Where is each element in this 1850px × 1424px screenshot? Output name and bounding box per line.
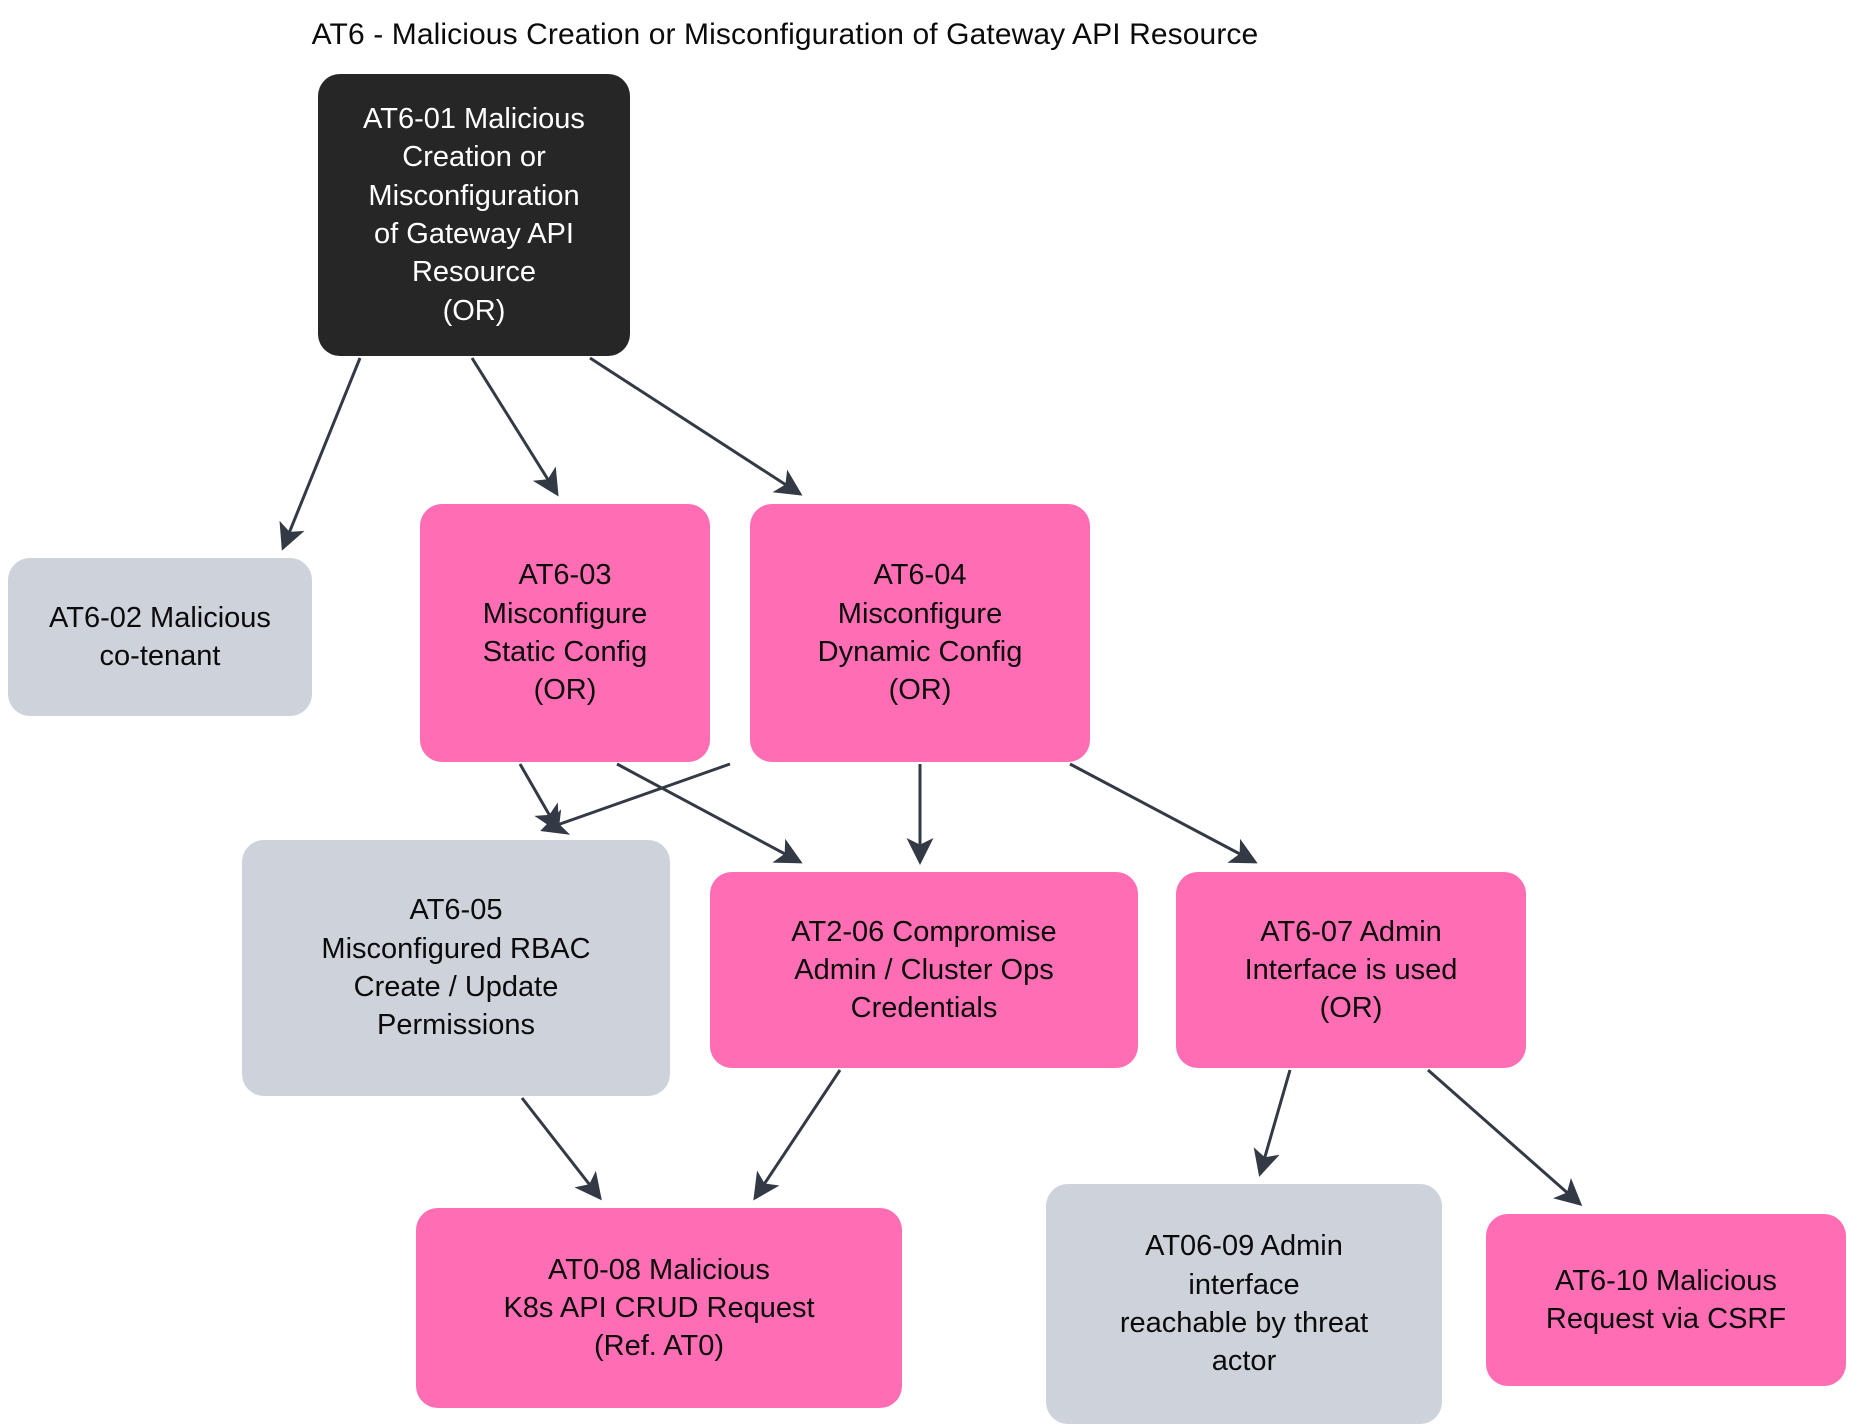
node-label: AT6-07 Admin Interface is used (OR) <box>1188 913 1514 1028</box>
node-at6-01[interactable]: AT6-01 Malicious Creation or Misconfigur… <box>318 74 630 356</box>
edge-at6-01-to-at6-03 <box>472 358 557 494</box>
node-at6-04[interactable]: AT6-04 Misconfigure Dynamic Config (OR) <box>750 504 1090 762</box>
node-at6-10[interactable]: AT6-10 Malicious Request via CSRF <box>1486 1214 1846 1386</box>
node-label: AT06-09 Admin interface reachable by thr… <box>1058 1227 1430 1380</box>
edge-at2-06-to-at0-08 <box>755 1070 840 1198</box>
edge-at6-04-to-at6-05 <box>543 764 730 830</box>
node-at6-03[interactable]: AT6-03 Misconfigure Static Config (OR) <box>420 504 710 762</box>
node-at06-09[interactable]: AT06-09 Admin interface reachable by thr… <box>1046 1184 1442 1424</box>
node-label: AT6-04 Misconfigure Dynamic Config (OR) <box>762 556 1078 709</box>
node-label: AT2-06 Compromise Admin / Cluster Ops Cr… <box>722 913 1126 1028</box>
edge-at6-01-to-at6-02 <box>283 358 360 548</box>
node-label: AT6-02 Malicious co-tenant <box>20 599 300 676</box>
node-at6-07[interactable]: AT6-07 Admin Interface is used (OR) <box>1176 872 1526 1068</box>
edge-at6-04-to-at6-07 <box>1070 764 1255 862</box>
node-label: AT6-03 Misconfigure Static Config (OR) <box>432 556 698 709</box>
attack-tree-canvas: AT6 - Malicious Creation or Misconfigura… <box>0 0 1850 1424</box>
node-at6-02[interactable]: AT6-02 Malicious co-tenant <box>8 558 312 716</box>
node-at0-08[interactable]: AT0-08 Malicious K8s API CRUD Request (R… <box>416 1208 902 1408</box>
edge-at6-03-to-at6-05 <box>520 764 558 830</box>
edge-at6-05-to-at0-08 <box>522 1098 600 1198</box>
page-title: AT6 - Malicious Creation or Misconfigura… <box>0 18 1570 52</box>
node-label: AT0-08 Malicious K8s API CRUD Request (R… <box>428 1251 890 1366</box>
node-label: AT6-05 Misconfigured RBAC Create / Updat… <box>254 891 658 1044</box>
node-at2-06[interactable]: AT2-06 Compromise Admin / Cluster Ops Cr… <box>710 872 1138 1068</box>
node-label: AT6-10 Malicious Request via CSRF <box>1498 1262 1834 1339</box>
edge-at6-07-to-at6-10 <box>1428 1070 1580 1204</box>
node-at6-05[interactable]: AT6-05 Misconfigured RBAC Create / Updat… <box>242 840 670 1096</box>
edge-at6-01-to-at6-04 <box>590 358 800 494</box>
node-label: AT6-01 Malicious Creation or Misconfigur… <box>330 100 618 330</box>
edge-at6-07-to-at06-09 <box>1260 1070 1290 1174</box>
